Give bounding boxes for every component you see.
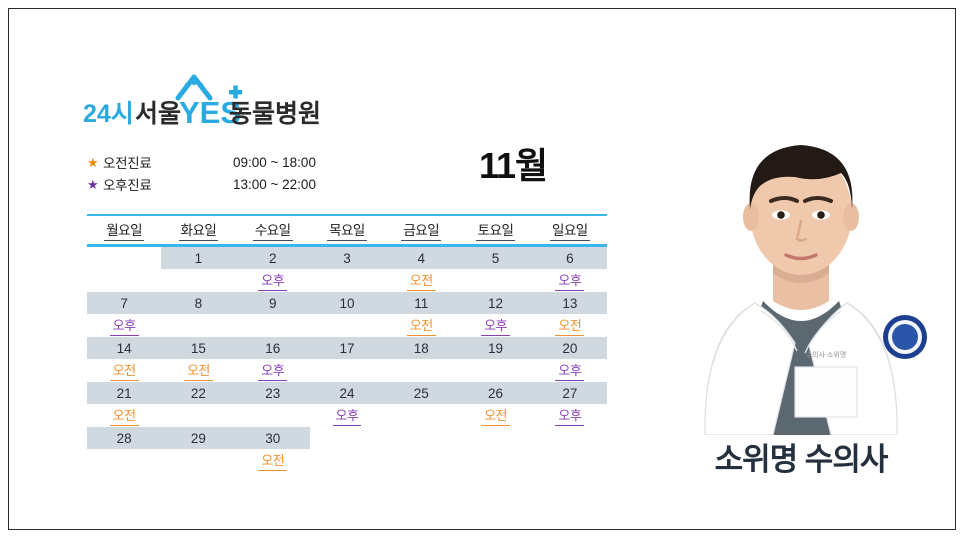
weekday-header-sat: 토요일	[458, 216, 532, 243]
hours-label-pm: 오후진료	[103, 174, 233, 194]
calendar-date-cell[interactable]: 19	[458, 337, 532, 359]
clinic-logo-icon: 24시 서울 YES 동물병원	[81, 64, 341, 134]
weekday-header-tue: 화요일	[161, 216, 235, 243]
calendar-date-cell[interactable]: 26	[458, 382, 532, 404]
clinic-hours: ★ 오전진료 09:00 ~ 18:00 ★ 오후진료 13:00 ~ 22:0…	[87, 151, 377, 195]
calendar-date-cell[interactable]: 10	[310, 292, 384, 314]
calendar-date-cell[interactable]: 12	[458, 292, 532, 314]
weekday-header-fri: 금요일	[384, 216, 458, 243]
hours-time-am: 09:00 ~ 18:00	[233, 155, 316, 170]
calendar-date-cell[interactable]: 17	[310, 337, 384, 359]
weekday-header-thu: 목요일	[310, 216, 384, 243]
calendar-date-cell[interactable]: 4	[384, 247, 458, 269]
calendar-empty-note-cell	[384, 359, 458, 382]
calendar-date-cell[interactable]: 20	[533, 337, 607, 359]
weekday-label-wed: 수요일	[253, 219, 293, 241]
calendar-date-cell[interactable]: 30	[236, 427, 310, 449]
calendar-empty-cell	[87, 247, 161, 269]
calendar-body-table: 123456오후오전오후78910111213오후오전오후오전141516171…	[87, 247, 607, 472]
calendar-note-cell: 오전	[87, 359, 161, 382]
calendar-head: 월요일 화요일 수요일 목요일 금요일 토요일 일요일	[87, 216, 607, 243]
calendar-note-cell: 오후	[310, 404, 384, 427]
calendar-date-cell[interactable]: 21	[87, 382, 161, 404]
weekday-label-mon: 월요일	[104, 219, 144, 241]
calendar-empty-cell	[533, 427, 607, 449]
vet-photo: 수의사 소위명	[645, 105, 956, 435]
calendar-empty-cell	[310, 427, 384, 449]
calendar-empty-note-cell	[87, 449, 161, 472]
calendar-note-row: 오후오전오후	[87, 269, 607, 292]
calendar: 월요일 화요일 수요일 목요일 금요일 토요일 일요일 123456오후오전오후…	[87, 214, 607, 472]
calendar-date-cell[interactable]: 24	[310, 382, 384, 404]
calendar-empty-cell	[458, 427, 532, 449]
shift-label-pm: 오후	[555, 405, 584, 426]
weekday-label-tue: 화요일	[179, 219, 219, 241]
calendar-empty-note-cell	[310, 359, 384, 382]
month-title: 11월	[479, 148, 547, 184]
calendar-date-row: 78910111213	[87, 292, 607, 314]
calendar-date-cell[interactable]: 9	[236, 292, 310, 314]
calendar-note-row: 오전오전오후오후	[87, 359, 607, 382]
weekday-label-fri: 금요일	[401, 219, 441, 241]
calendar-note-cell: 오후	[87, 314, 161, 337]
shift-label-pm: 오후	[110, 315, 139, 336]
calendar-empty-note-cell	[161, 314, 235, 337]
weekday-label-sat: 토요일	[476, 219, 516, 241]
calendar-date-cell[interactable]: 1	[161, 247, 235, 269]
shift-label-am: 오전	[110, 360, 139, 381]
calendar-empty-note-cell	[384, 404, 458, 427]
calendar-note-cell: 오전	[533, 314, 607, 337]
calendar-empty-note-cell	[236, 314, 310, 337]
calendar-empty-note-cell	[458, 449, 532, 472]
calendar-date-cell[interactable]: 8	[161, 292, 235, 314]
shift-label-pm: 오후	[258, 270, 287, 291]
weekday-header-wed: 수요일	[236, 216, 310, 243]
shift-label-am: 오전	[184, 360, 213, 381]
shift-label-am: 오전	[407, 315, 436, 336]
calendar-note-cell: 오후	[533, 404, 607, 427]
calendar-date-cell[interactable]: 5	[458, 247, 532, 269]
calendar-empty-note-cell	[310, 269, 384, 292]
calendar-date-cell[interactable]: 18	[384, 337, 458, 359]
shift-label-pm: 오후	[555, 270, 584, 291]
svg-text:동물병원: 동물병원	[229, 100, 321, 128]
calendar-empty-note-cell	[458, 269, 532, 292]
calendar-header-row: 월요일 화요일 수요일 목요일 금요일 토요일 일요일	[87, 216, 607, 243]
star-icon-pm: ★	[87, 178, 103, 191]
calendar-empty-note-cell	[161, 404, 235, 427]
vet-caption: 소위명 수의사	[645, 434, 956, 479]
calendar-date-cell[interactable]: 13	[533, 292, 607, 314]
calendar-body: 123456오후오전오후78910111213오후오전오후오전141516171…	[87, 247, 607, 472]
calendar-empty-note-cell	[87, 269, 161, 292]
shift-label-pm: 오후	[258, 360, 287, 381]
weekday-header-sun: 일요일	[533, 216, 607, 243]
calendar-empty-note-cell	[161, 269, 235, 292]
calendar-date-row: 21222324252627	[87, 382, 607, 404]
weekday-label-sun: 일요일	[550, 219, 590, 241]
poster-page: 24시 서울 YES 동물병원 ★ 오전진료 09:00 ~ 18:00 ★	[8, 8, 956, 530]
calendar-note-cell: 오전	[384, 314, 458, 337]
calendar-note-cell: 오후	[458, 314, 532, 337]
calendar-empty-note-cell	[236, 404, 310, 427]
calendar-note-row: 오후오전오후오전	[87, 314, 607, 337]
calendar-date-row: 14151617181920	[87, 337, 607, 359]
calendar-date-cell[interactable]: 14	[87, 337, 161, 359]
calendar-note-cell: 오전	[458, 404, 532, 427]
calendar-empty-note-cell	[384, 449, 458, 472]
calendar-date-cell[interactable]: 22	[161, 382, 235, 404]
hours-time-pm: 13:00 ~ 22:00	[233, 177, 316, 192]
calendar-note-cell: 오전	[161, 359, 235, 382]
calendar-date-row: 282930	[87, 427, 607, 449]
hours-label-am: 오전진료	[103, 152, 233, 172]
calendar-date-cell[interactable]: 27	[533, 382, 607, 404]
calendar-empty-cell	[384, 427, 458, 449]
calendar-date-cell[interactable]: 29	[161, 427, 235, 449]
star-icon-am: ★	[87, 156, 103, 169]
svg-text:24시: 24시	[83, 100, 134, 128]
calendar-empty-note-cell	[533, 449, 607, 472]
hours-row-pm: ★ 오후진료 13:00 ~ 22:00	[87, 173, 377, 195]
calendar-table: 월요일 화요일 수요일 목요일 금요일 토요일 일요일	[87, 216, 607, 243]
shift-label-pm: 오후	[333, 405, 362, 426]
calendar-date-cell[interactable]: 7	[87, 292, 161, 314]
calendar-empty-note-cell	[161, 449, 235, 472]
calendar-note-cell: 오전	[87, 404, 161, 427]
calendar-date-cell[interactable]: 6	[533, 247, 607, 269]
weekday-label-thu: 목요일	[327, 219, 367, 241]
calendar-date-cell[interactable]: 25	[384, 382, 458, 404]
calendar-empty-note-cell	[310, 314, 384, 337]
calendar-note-cell: 오후	[533, 359, 607, 382]
svg-text:수의사 소위명: 수의사 소위명	[806, 350, 847, 359]
calendar-date-cell[interactable]: 2	[236, 247, 310, 269]
weekday-header-mon: 월요일	[87, 216, 161, 243]
calendar-date-cell[interactable]: 28	[87, 427, 161, 449]
hours-row-am: ★ 오전진료 09:00 ~ 18:00	[87, 151, 377, 173]
shift-label-pm: 오후	[481, 315, 510, 336]
calendar-date-row: 123456	[87, 247, 607, 269]
shift-label-am: 오전	[481, 405, 510, 426]
clinic-logo: 24시 서울 YES 동물병원	[81, 64, 341, 134]
shift-label-am: 오전	[555, 315, 584, 336]
calendar-date-cell[interactable]: 16	[236, 337, 310, 359]
calendar-note-row: 오전	[87, 449, 607, 472]
calendar-note-cell: 오전	[384, 269, 458, 292]
calendar-empty-note-cell	[458, 359, 532, 382]
shift-label-am: 오전	[258, 450, 287, 471]
calendar-note-row: 오전오후오전오후	[87, 404, 607, 427]
shift-label-am: 오전	[110, 405, 139, 426]
shift-label-pm: 오후	[555, 360, 584, 381]
vet-portrait-icon: 수의사 소위명	[645, 105, 956, 435]
calendar-date-cell[interactable]: 3	[310, 247, 384, 269]
svg-text:서울: 서울	[135, 100, 181, 128]
calendar-empty-note-cell	[310, 449, 384, 472]
calendar-note-cell: 오후	[533, 269, 607, 292]
calendar-note-cell: 오후	[236, 359, 310, 382]
calendar-date-cell[interactable]: 23	[236, 382, 310, 404]
calendar-date-cell[interactable]: 11	[384, 292, 458, 314]
shift-label-am: 오전	[407, 270, 436, 291]
left-panel: 24시 서울 YES 동물병원 ★ 오전진료 09:00 ~ 18:00 ★	[9, 9, 629, 529]
calendar-note-cell: 오후	[236, 269, 310, 292]
calendar-note-cell: 오전	[236, 449, 310, 472]
calendar-date-cell[interactable]: 15	[161, 337, 235, 359]
